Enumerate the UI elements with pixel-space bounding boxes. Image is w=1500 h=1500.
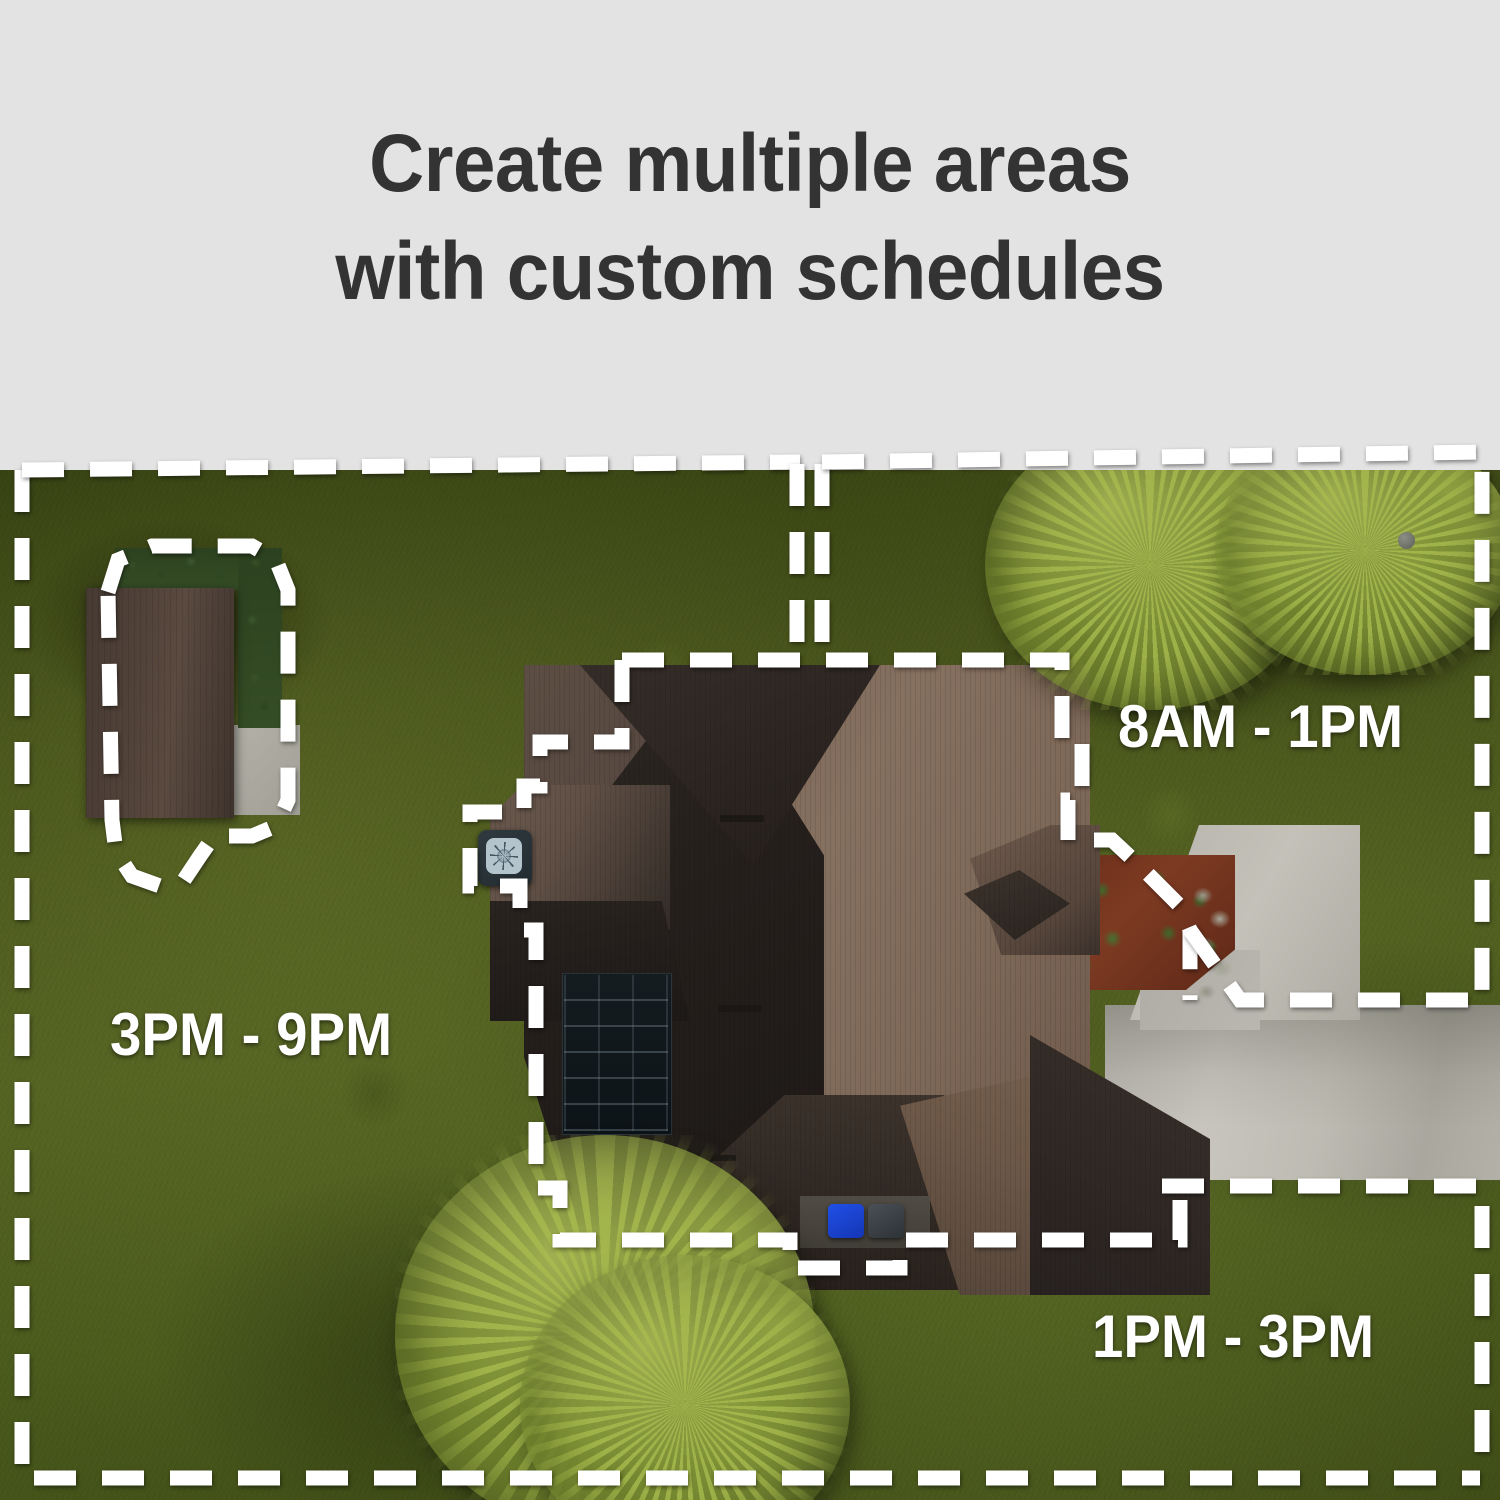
shed-concrete-pad — [232, 725, 300, 815]
zone-label-midday: 1PM - 3PM — [1092, 1302, 1374, 1371]
zone-label-morning: 8AM - 1PM — [1118, 692, 1403, 761]
shed-roof-texture — [86, 588, 234, 818]
bin-pad — [800, 1196, 930, 1248]
page-title: Create multiple areas with custom schedu… — [53, 110, 1448, 326]
landscape-boulders — [1185, 880, 1245, 1010]
ground-marker — [1398, 532, 1415, 549]
zone-label-evening: 3PM - 9PM — [110, 1000, 392, 1069]
roof-vent — [720, 815, 764, 822]
shed-hedge-right — [238, 548, 282, 728]
header-band: Create multiple areas with custom schedu… — [0, 0, 1500, 470]
porch-railing — [564, 975, 668, 1131]
promo-screenshot: 8AM - 1PM 3PM - 9PM 1PM - 3PM Create mul… — [0, 0, 1500, 1500]
recycling-bin-blue — [828, 1204, 864, 1238]
roof-vent — [718, 1005, 762, 1012]
tree-canopy — [520, 1255, 850, 1500]
air-conditioner-unit — [478, 830, 532, 886]
ac-fan-grille-icon — [486, 838, 522, 874]
trash-bin-gray — [868, 1204, 904, 1238]
tree-bottom-left-2 — [520, 1255, 850, 1500]
tree-needles — [520, 1255, 850, 1500]
